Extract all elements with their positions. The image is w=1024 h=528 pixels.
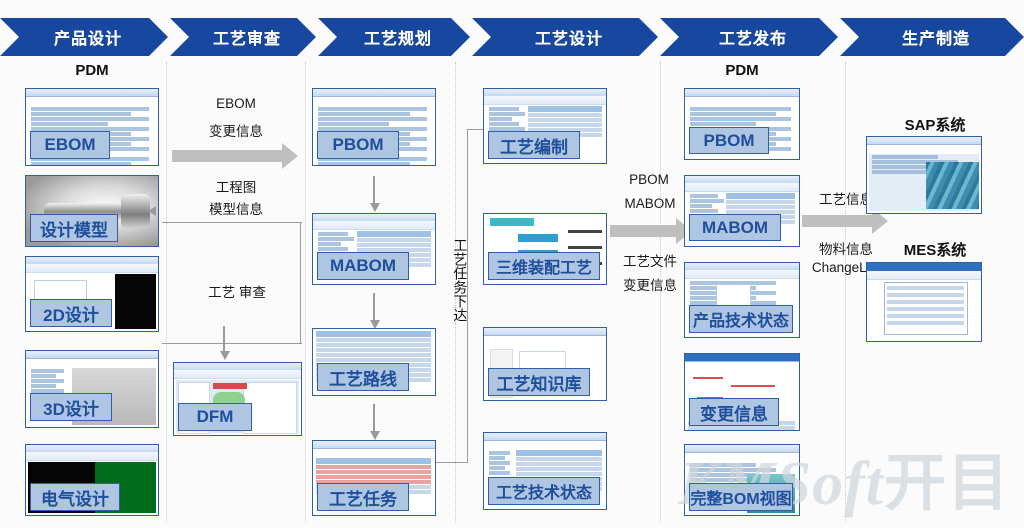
- plate-full-bom-view[interactable]: 完整BOM视图: [689, 483, 793, 511]
- plate-dfm[interactable]: DFM: [178, 403, 252, 431]
- window-toolbar: [867, 271, 981, 280]
- plate-label: 工艺路线: [329, 365, 397, 390]
- plate-label: MABOM: [702, 218, 768, 238]
- arrow-mabom-to-route: [373, 293, 375, 321]
- column-title-sap: SAP系统: [860, 114, 1010, 135]
- plate-label: MABOM: [330, 256, 396, 276]
- arrow-pbom-to-mabom: [373, 176, 375, 204]
- connector-review-return-h-top: [162, 222, 302, 223]
- window-titlebar: [26, 89, 158, 97]
- plate-label: PBOM: [333, 135, 384, 155]
- window-titlebar: [685, 354, 799, 362]
- thumbnail-3d-design[interactable]: 3D设计: [25, 350, 159, 428]
- thumbnail-product-tech-status[interactable]: 产品技术状态: [684, 262, 800, 338]
- plate-product-tech-status[interactable]: 产品技术状态: [689, 305, 793, 333]
- column-separator-2: [305, 62, 306, 522]
- plate-process-route[interactable]: 工艺路线: [317, 363, 409, 391]
- thumbnail-change-info[interactable]: 变更信息: [684, 353, 800, 431]
- window-titlebar: [867, 137, 981, 145]
- stage-chevron-process-release[interactable]: 工艺发布: [660, 18, 838, 56]
- plate-design-model[interactable]: 设计模型: [30, 214, 118, 242]
- plate-3d-design[interactable]: 3D设计: [30, 393, 112, 421]
- arrow-route-to-task: [373, 404, 375, 432]
- plate-electrical-design[interactable]: 电气设计: [30, 483, 120, 511]
- arrow-down-to-dfm: [223, 326, 225, 352]
- window-titlebar: [313, 89, 435, 97]
- app-window-mock: [867, 137, 981, 213]
- connector-task-h-bottom: [436, 462, 468, 463]
- plate-2d-design[interactable]: 2D设计: [30, 299, 112, 327]
- plate-ebom[interactable]: EBOM: [30, 131, 110, 159]
- window-titlebar: [685, 89, 799, 97]
- plate-label: 2D设计: [43, 301, 99, 326]
- stage-label: 工艺规划: [364, 25, 432, 49]
- thumbnail-2d-design[interactable]: 2D设计: [25, 256, 159, 332]
- thumbnail-mes-system[interactable]: [866, 262, 982, 342]
- plate-pbom-release[interactable]: PBOM: [689, 127, 769, 154]
- flow-diagram-canvas: 产品设计 工艺审查 工艺规划 工艺设计 工艺发布 生产制造 PDM PDM SA…: [0, 0, 1024, 528]
- window-titlebar: [685, 445, 799, 453]
- plate-label: 电气设计: [41, 485, 109, 510]
- window-toolbar: [685, 183, 799, 192]
- plate-label: 工艺知识库: [497, 370, 582, 395]
- plate-3d-assembly-process[interactable]: 三维装配工艺: [488, 252, 600, 280]
- thumbnail-ebom[interactable]: EBOM: [25, 88, 159, 166]
- thumbnail-process-knowledge-base[interactable]: 工艺知识库: [483, 327, 607, 401]
- flow-label-change-info-release: 变更信息: [608, 274, 692, 294]
- window-toolbar: [174, 370, 301, 379]
- flow-label-change-info: 变更信息: [176, 120, 296, 140]
- column-separator-1: [166, 62, 167, 522]
- plate-mabom-planning[interactable]: MABOM: [317, 252, 409, 280]
- sap-banner-image: [926, 162, 979, 209]
- window-content: [869, 280, 979, 339]
- plate-label: EBOM: [45, 135, 96, 155]
- vertical-label-text: 工艺任务下达: [453, 238, 468, 322]
- stage-chevron-manufacturing[interactable]: 生产制造: [840, 18, 1024, 56]
- plate-label: DFM: [197, 407, 234, 427]
- window-toolbar: [26, 264, 158, 273]
- column-title-pdm-right: PDM: [672, 62, 812, 79]
- column-title-pdm-left: PDM: [22, 62, 162, 79]
- plate-process-edit[interactable]: 工艺编制: [488, 131, 580, 159]
- plate-label: 产品技术状态: [693, 307, 789, 331]
- vertical-label-task-dispatch: 工艺任务下达: [452, 238, 468, 325]
- flow-label-model-info: 模型信息: [176, 198, 296, 218]
- thumbnail-full-bom-view[interactable]: 完整BOM视图: [684, 444, 800, 516]
- thumbnail-pbom-planning[interactable]: PBOM: [312, 88, 436, 166]
- flow-label-ebom: EBOM: [176, 96, 296, 111]
- window-content: [869, 154, 979, 211]
- stage-chevron-product-design[interactable]: 产品设计: [0, 18, 168, 56]
- plate-process-knowledge-base[interactable]: 工艺知识库: [488, 368, 590, 396]
- thumbnail-3d-assembly-process[interactable]: 三维装配工艺: [483, 213, 607, 285]
- stage-label: 工艺发布: [719, 25, 787, 49]
- plate-process-tech-status[interactable]: 工艺技术状态: [488, 477, 600, 505]
- window-toolbar: [484, 96, 606, 105]
- process-stage-banner: 产品设计 工艺审查 工艺规划 工艺设计 工艺发布 生产制造: [0, 18, 1024, 56]
- thumbnail-process-route[interactable]: 工艺路线: [312, 328, 436, 396]
- plate-label: 设计模型: [40, 216, 108, 241]
- plate-label: 工艺编制: [500, 133, 568, 158]
- thumbnail-electrical-design[interactable]: 电气设计: [25, 444, 159, 516]
- window-toolbar: [26, 452, 158, 461]
- arrow-design-to-review: [172, 143, 300, 169]
- window-titlebar: [26, 351, 158, 359]
- window-toolbar: [313, 221, 435, 230]
- flow-label-drawing: 工程图: [176, 176, 296, 196]
- thumbnail-mabom-release[interactable]: MABOM: [684, 175, 800, 247]
- thumbnail-process-tech-status[interactable]: 工艺技术状态: [483, 432, 607, 510]
- thumbnail-sap-system[interactable]: [866, 136, 982, 214]
- window-titlebar: [313, 441, 435, 449]
- thumbnail-pbom-release[interactable]: PBOM: [684, 88, 800, 160]
- plate-label: 完整BOM视图: [690, 485, 791, 509]
- connector-arrowhead-to-design-model: [148, 206, 156, 216]
- thumbnail-dfm[interactable]: DFM: [173, 362, 302, 436]
- column-separator-5: [845, 62, 846, 522]
- plate-label: 3D设计: [43, 395, 99, 420]
- stage-label: 产品设计: [54, 25, 122, 49]
- thumbnail-mabom-planning[interactable]: MABOM: [312, 213, 436, 285]
- window-titlebar: [484, 328, 606, 336]
- window-toolbar: [685, 270, 799, 279]
- thumbnail-process-task[interactable]: 工艺任务: [312, 440, 436, 516]
- connector-review-return-v: [300, 222, 301, 344]
- stage-chevron-process-design[interactable]: 工艺设计: [472, 18, 658, 56]
- plate-pbom-planning[interactable]: PBOM: [317, 131, 399, 159]
- thumbnail-process-edit[interactable]: 工艺编制: [483, 88, 607, 164]
- stage-label: 工艺设计: [535, 25, 603, 49]
- flow-label-mabom-release: MABOM: [608, 196, 692, 211]
- watermark-cjk: 开目: [884, 446, 1010, 519]
- plate-process-task[interactable]: 工艺任务: [317, 483, 409, 511]
- thumbnail-design-model[interactable]: 设计模型: [25, 175, 159, 247]
- flow-label-process-file: 工艺文件: [608, 250, 692, 270]
- stage-chevron-process-planning[interactable]: 工艺规划: [318, 18, 470, 56]
- plate-label: 工艺任务: [329, 485, 397, 510]
- plate-label: 三维装配工艺: [496, 254, 592, 278]
- arrow-design-to-release: [610, 218, 692, 244]
- flow-label-pbom-release: PBOM: [612, 172, 686, 187]
- app-window-mock: [867, 263, 981, 341]
- plate-label: 变更信息: [700, 400, 768, 425]
- stage-label: 工艺审查: [213, 25, 281, 49]
- plate-label: PBOM: [704, 131, 755, 151]
- stage-label: 生产制造: [902, 25, 970, 49]
- flow-label-process-review: 工艺 审查: [178, 281, 296, 301]
- plate-change-info[interactable]: 变更信息: [689, 398, 779, 426]
- flow-label-material-info: 物料信息: [800, 238, 892, 258]
- stage-chevron-process-review[interactable]: 工艺审查: [170, 18, 316, 56]
- plate-mabom-release[interactable]: MABOM: [689, 214, 781, 241]
- connector-review-return-h-bottom: [162, 343, 302, 344]
- window-titlebar: [484, 433, 606, 441]
- plate-label: 工艺技术状态: [496, 479, 592, 503]
